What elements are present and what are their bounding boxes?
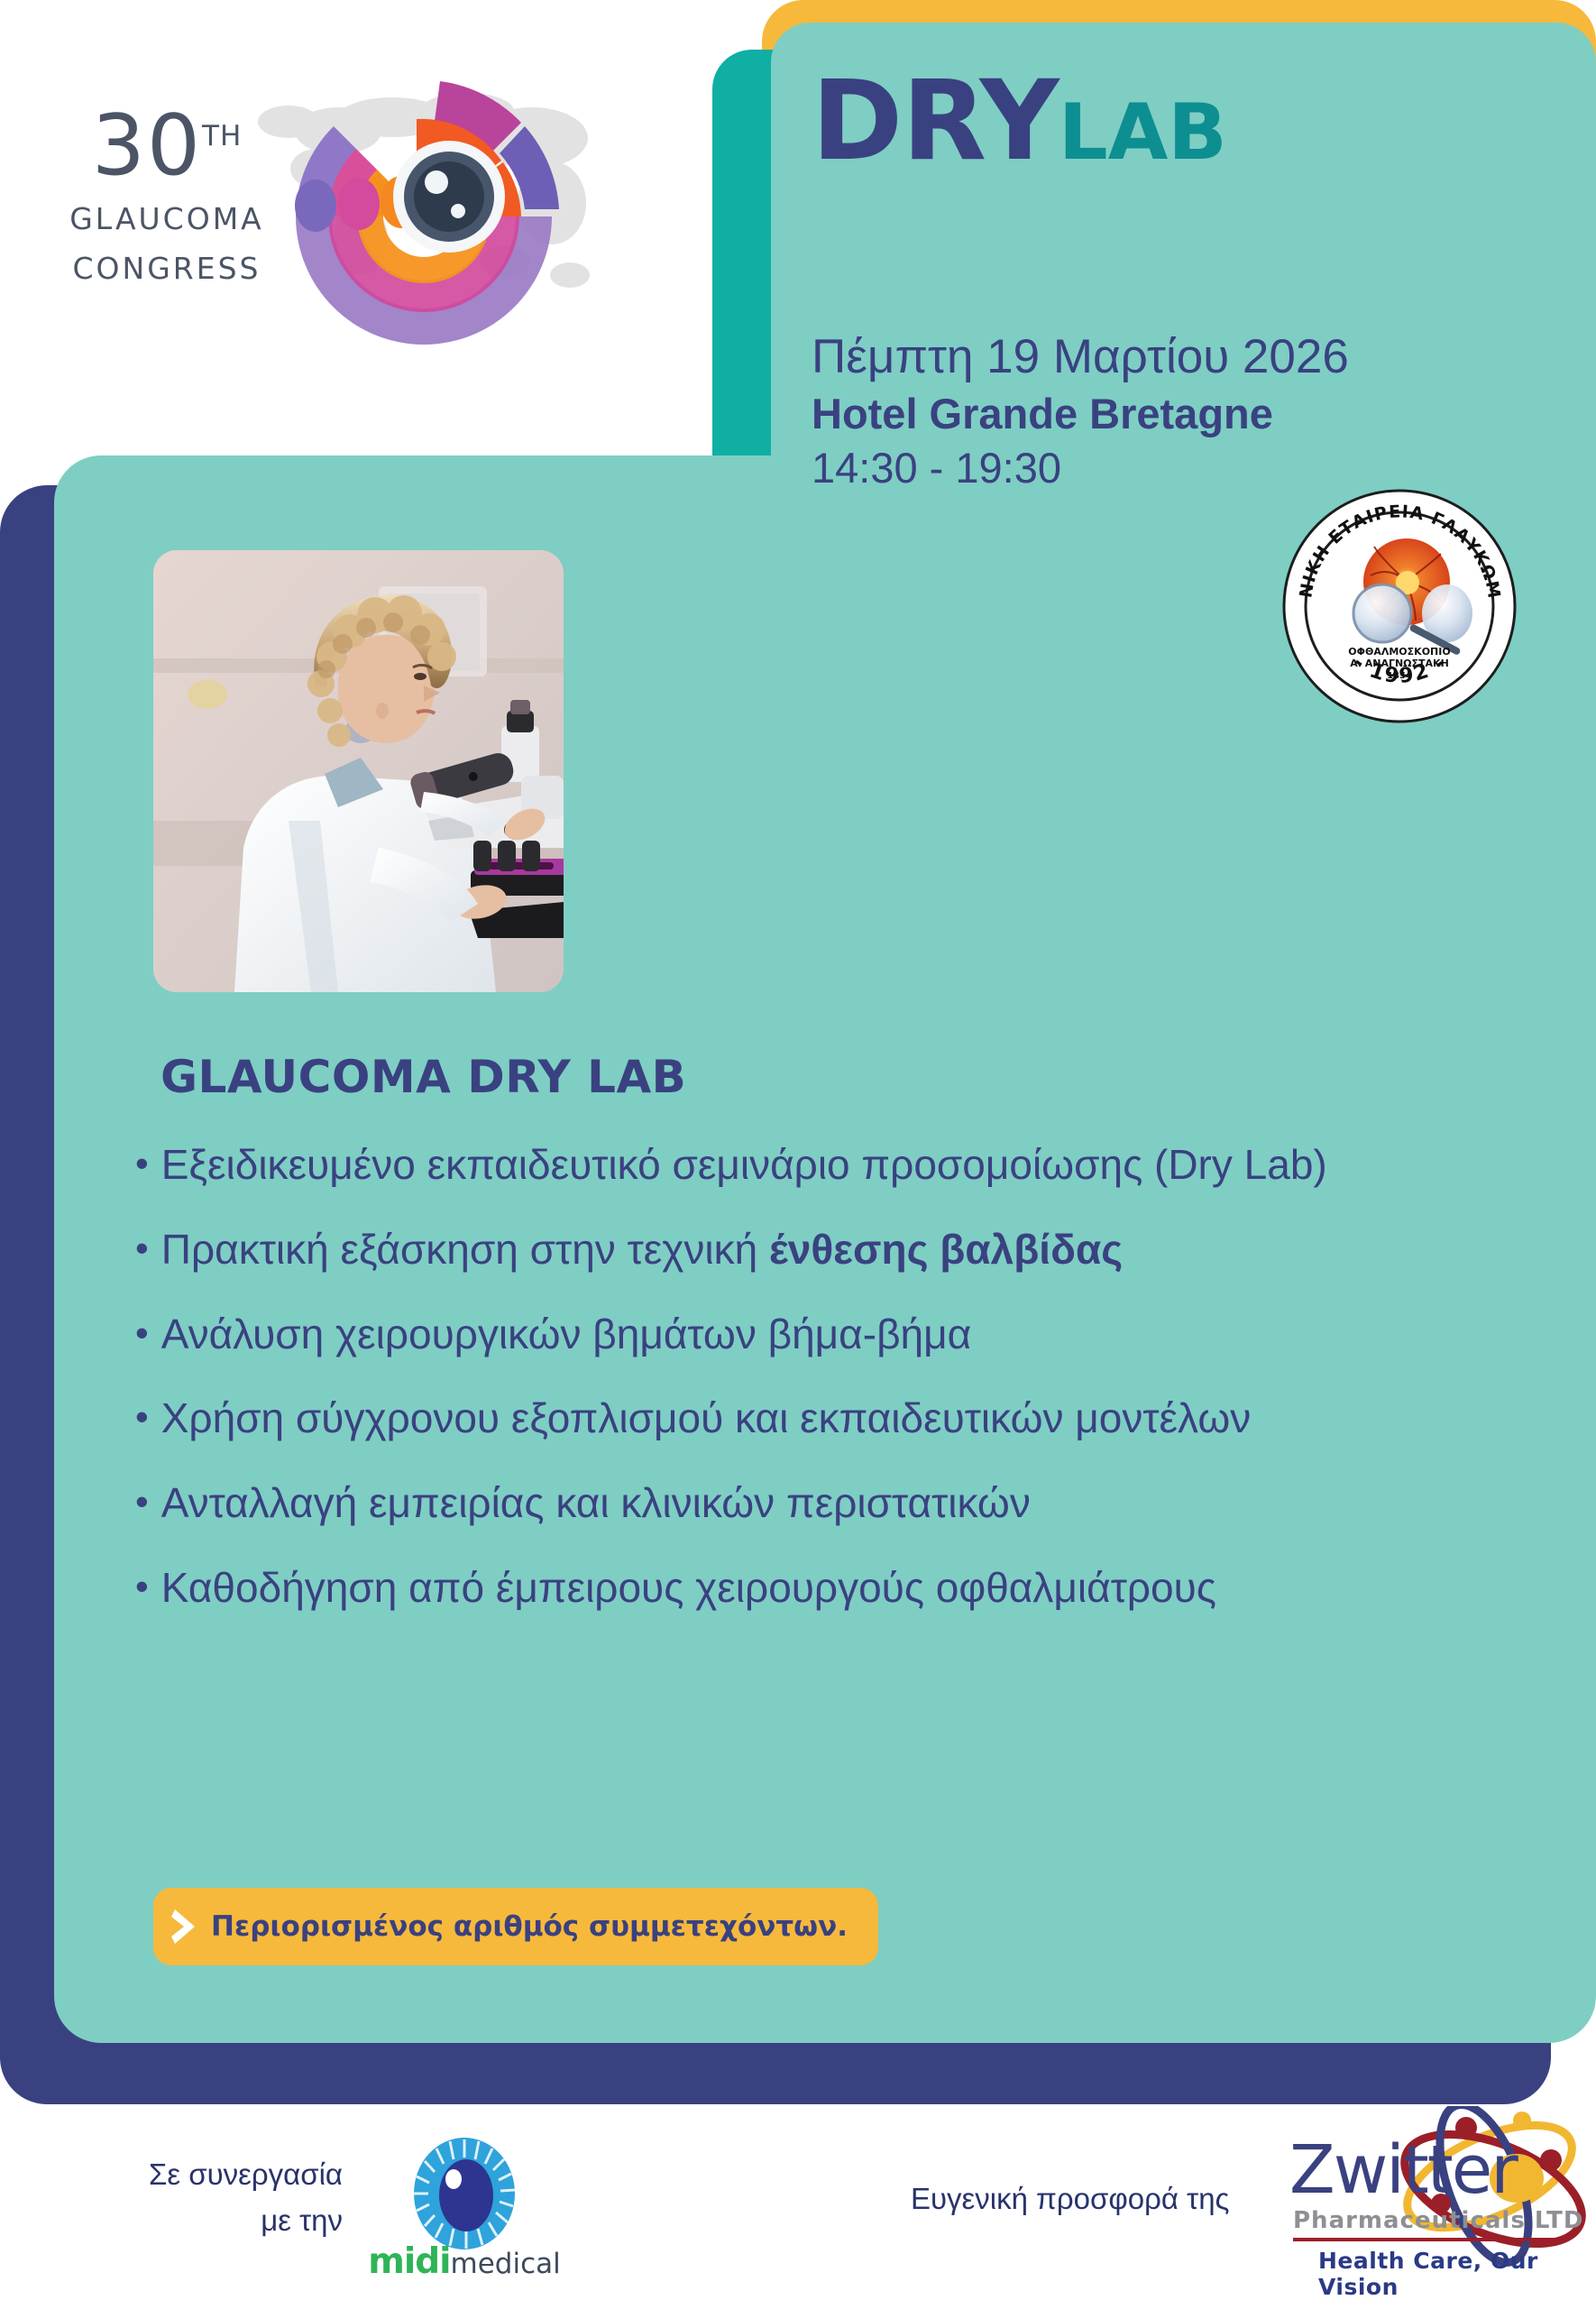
feature-bullet-list: • Εξειδικευμένο εκπαιδευτικό σεμινάριο π… <box>135 1138 1542 1646</box>
congress-ordinal-number: 30 <box>92 97 202 194</box>
zwitter-subtitle: Pharmaceuticals LTD <box>1293 2207 1583 2234</box>
zwitter-wordmark: Zwitter <box>1289 2131 1517 2209</box>
partner-block: Σε συνεργασία με την <box>54 2142 613 2291</box>
list-item-label: Καθοδήγηση από έμπειρους χειρουργούς οφθ… <box>161 1561 1542 1615</box>
list-item-label: Χρήση σύγχρονου εξοπλισμού και εκπαιδευτ… <box>161 1392 1542 1446</box>
event-details: Πέμπτη 19 Μαρτίου 2026 Hotel Grande Bret… <box>812 329 1587 495</box>
sponsor-block: Ευγενική προσφορά της Zwitter Pharm <box>911 2142 1596 2295</box>
glaucoma-eye-world-logo-icon <box>234 68 613 365</box>
list-item: • Χρήση σύγχρονου εξοπλισμού και εκπαιδε… <box>135 1392 1542 1446</box>
zwitter-pharmaceuticals-logo: Zwitter Pharmaceuticals LTD Health Care,… <box>1280 2106 1596 2300</box>
zwitter-tagline: Health Care, Our Vision <box>1318 2248 1596 2300</box>
midi-medical-logo: midimedical <box>352 2138 577 2295</box>
congress-logo: 30TH GLAUCOMA CONGRESS <box>9 68 676 365</box>
svg-text:ΟΦΘΑΛΜΟΣΚΟΠΙΟ: ΟΦΘΑΛΜΟΣΚΟΠΙΟ <box>1348 646 1450 658</box>
limited-seats-label: Περιορισμένος αριθμός συμμετεχόντων. <box>211 1910 848 1943</box>
list-item-label: Ανταλλαγή εμπειρίας και κλινικών περιστα… <box>161 1477 1542 1531</box>
hellenic-glaucoma-society-seal-icon: ΕΛΛΗΝΙΚΗ ΕΤΑΙΡΕΙΑ ΓΛΑΥΚΩΜΑΤΟΣ - 1992 - <box>1280 487 1519 726</box>
midi-medical-wordmark: midimedical <box>352 2244 577 2279</box>
limited-seats-badge: Περιορισμένος αριθμός συμμετεχόντων. <box>153 1888 878 1965</box>
sponsor-intro: Ευγενική προσφορά της <box>911 2178 1271 2220</box>
partner-intro: Σε συνεργασία με την <box>72 2151 343 2243</box>
svg-text:Α. ΑΝΑΓΝΩΣΤΑΚΗ: Α. ΑΝΑΓΝΩΣΤΑΚΗ <box>1350 658 1449 669</box>
bullet-marker-icon: • <box>135 1477 149 1527</box>
list-item: • Ανάλυση χειρουργικών βημάτων βήμα-βήμα <box>135 1308 1542 1362</box>
list-item-label: Ανάλυση χειρουργικών βημάτων βήμα-βήμα <box>161 1308 1542 1362</box>
svg-text:1854: 1854 <box>1387 671 1412 681</box>
page-title: DRYLAB <box>812 68 1587 176</box>
bullet-marker-icon: • <box>135 1392 149 1442</box>
list-item: • Ανταλλαγή εμπειρίας και κλινικών περισ… <box>135 1477 1542 1531</box>
microscope-photo <box>153 550 564 992</box>
zwitter-divider <box>1293 2238 1555 2241</box>
partner-intro-line1: Σε συνεργασία <box>72 2151 343 2197</box>
title-lab: LAB <box>1059 87 1227 178</box>
list-item-text: Πρακτική εξάσκηση στην τεχνική <box>161 1226 769 1273</box>
midi-wordmark-secondary: medical <box>451 2248 561 2280</box>
bullet-marker-icon: • <box>135 1223 149 1274</box>
midi-wordmark-primary: midi <box>368 2241 450 2282</box>
event-date: Πέμπτη 19 Μαρτίου 2026 <box>812 329 1587 386</box>
chevron-right-icon <box>170 1906 200 1947</box>
bullet-marker-icon: • <box>135 1561 149 1612</box>
list-item-emphasis: ένθεσης βαλβίδας <box>769 1226 1123 1273</box>
list-item-label: Πρακτική εξάσκηση στην τεχνική ένθεσης β… <box>161 1223 1542 1277</box>
bullet-marker-icon: • <box>135 1138 149 1189</box>
list-item-label: Εξειδικευμένο εκπαιδευτικό σεμινάριο προ… <box>161 1138 1542 1192</box>
list-item: • Πρακτική εξάσκηση στην τεχνική ένθεσης… <box>135 1223 1542 1277</box>
title-dry: DRY <box>812 57 1059 185</box>
event-venue: Hotel Grande Bretagne <box>812 388 1587 441</box>
bullet-marker-icon: • <box>135 1308 149 1358</box>
poster-root: 30TH GLAUCOMA CONGRESS <box>0 0 1596 2300</box>
partner-intro-line2: με την <box>72 2197 343 2243</box>
list-item: • Καθοδήγηση από έμπειρους χειρουργούς ο… <box>135 1561 1542 1615</box>
section-title: GLAUCOMA DRY LAB <box>161 1051 686 1103</box>
list-item: • Εξειδικευμένο εκπαιδευτικό σεμινάριο π… <box>135 1138 1542 1192</box>
